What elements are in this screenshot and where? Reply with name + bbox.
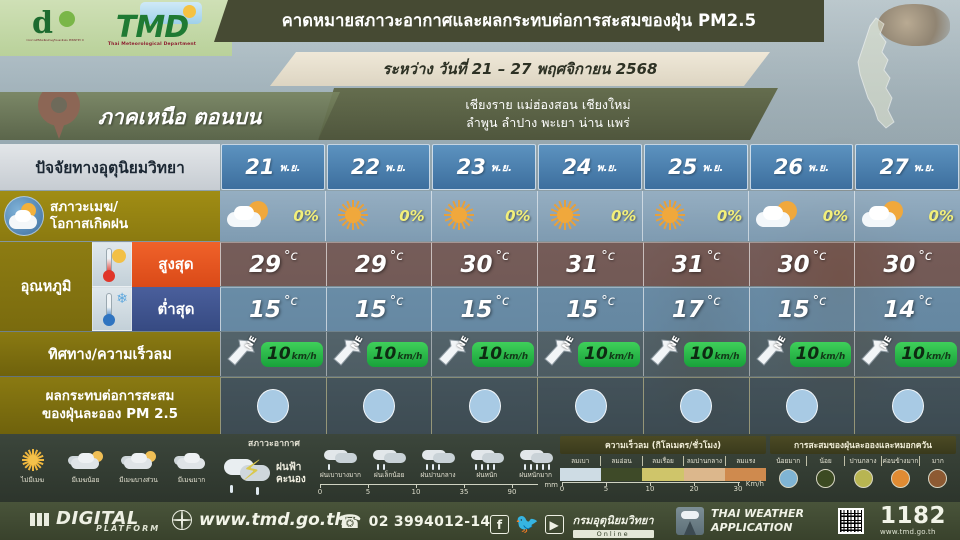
pm25-label-line-2: ของฝุ่นละออง PM 2.5: [42, 406, 178, 424]
wind-legend-segment: [560, 468, 601, 481]
ministry-logo: d กระทรวงดิจิทัลเพื่อเศรษฐกิจและสังคม MI…: [26, 6, 84, 52]
day-month: พ.ย.: [385, 159, 406, 176]
rain-axis-tick-label: 5: [366, 488, 370, 496]
rain-drop: [377, 464, 379, 470]
rain-legend-label: ฝนเล็กน้อย: [374, 470, 405, 480]
temp-unit: °c: [284, 294, 298, 309]
mini-sun-icon: [24, 451, 42, 469]
website-link[interactable]: www.tmd.go.th: [172, 510, 347, 530]
rain-drop: [487, 464, 489, 470]
wind-row: ทิศทาง/ความเร็วลม NE10km/hNE10km/hNE10km…: [0, 332, 960, 376]
pm-legend-category: น้อย: [806, 456, 843, 466]
day-number: 23: [457, 155, 486, 179]
cloud-top: [763, 206, 783, 220]
rain-chance: 0%: [505, 207, 530, 225]
sky-legend-item: มีเมฆบางส่วน: [112, 448, 165, 498]
facebook-icon[interactable]: f: [490, 515, 509, 534]
pm25-level-dot: [892, 389, 924, 423]
temp-max-cell-21: 29°c: [220, 242, 326, 286]
temp-unit: °c: [813, 294, 827, 309]
ministry-dot-icon: [59, 11, 75, 27]
weather-icon-wrap: [544, 196, 590, 236]
rain-legend-label: ฝนเบาบางมาก: [320, 470, 361, 480]
hotline-website: www.tmd.go.th: [880, 528, 946, 536]
cloud-b: [433, 453, 455, 463]
sunny-icon: [340, 202, 366, 228]
youtube-icon[interactable]: ▶: [545, 515, 564, 534]
wind-speed-unit: km/h: [715, 352, 740, 362]
factor-header-label: ปัจจัยทางอุตุนิยมวิทยา: [35, 155, 185, 180]
pm-legend-dot-wrap: [844, 469, 881, 488]
sun-core: [345, 207, 361, 223]
wind-direction-arrow-icon: NE: [435, 336, 469, 372]
thai-weather-app[interactable]: THAI WEATHER APPLICATION: [676, 507, 804, 535]
day-month: พ.ย.: [279, 159, 300, 176]
phone-number: 02 3994012-14: [369, 514, 491, 530]
temp-unit: °c: [601, 294, 615, 309]
pm-legend-category: ค่อนข้างมาก: [881, 456, 918, 466]
pm25-level-dot: [363, 389, 395, 423]
rain-legend-label: ฝนปานกลาง: [420, 470, 455, 480]
twitter-icon[interactable]: 🐦: [515, 515, 539, 534]
temp-value: 30: [460, 252, 492, 278]
pm25-day-cells: [220, 377, 960, 434]
wind-speed-unit: km/h: [609, 352, 634, 362]
wind-speed-badge: 10km/h: [895, 342, 957, 367]
partly-cloudy-icon: [755, 196, 801, 236]
rain-chance: 0%: [929, 207, 954, 225]
pm-legend-category: ปานกลาง: [844, 456, 881, 466]
weather-icon-wrap: [332, 196, 378, 236]
partly-cloudy-icon: [861, 196, 907, 236]
title-bar: คาดหมายสภาวะอากาศและผลกระทบต่อการสะสมของ…: [214, 0, 824, 42]
page-title: คาดหมายสภาวะอากาศและผลกระทบต่อการสะสมของ…: [282, 8, 756, 34]
temp-value: 15: [566, 297, 598, 323]
rain-drop: [328, 464, 330, 470]
wind-legend-category: ลมแรง: [725, 456, 766, 466]
pm25-cell-24: [537, 377, 643, 434]
partly-cloud-icon: [119, 448, 159, 474]
pm25-label-line-1: ผลกระทบต่อการสะสม: [42, 388, 178, 406]
day-number: 22: [351, 155, 380, 179]
digital-platform-logo: DIGITAL PLATFORM: [30, 508, 180, 534]
temp-min-cell-23: 15°c: [431, 287, 537, 331]
thunderstorm-label-line-1: ฝนฟ้า: [276, 462, 306, 475]
pm-legend-dot-wrap: [770, 469, 807, 488]
wind-cell-27: NE10km/h: [854, 332, 960, 376]
sky-label: สภาวะเมฆ/ โอกาสเกิดฝน: [50, 199, 128, 233]
rain-drop: [548, 464, 550, 470]
sky-cell-22: 0%: [325, 191, 431, 241]
temp-min-cell-21: 15°c: [220, 287, 326, 331]
sky-legend-label: มีเมฆน้อย: [72, 475, 100, 485]
wind-axis-unit: Km/h: [746, 480, 764, 488]
wind-direction-arrow-icon: NE: [753, 336, 787, 372]
wind-axis-tick-label: 30: [734, 485, 743, 493]
tmd-logo-text: TMD: [92, 10, 212, 45]
wind-speed-unit: km/h: [820, 352, 845, 362]
temp-value: 31: [672, 252, 704, 278]
phone-contact[interactable]: ☎ 02 3994012-14: [338, 511, 490, 533]
factor-header-cell: ปัจจัยทางอุตุนิยมวิทยา: [0, 144, 220, 190]
wind-direction-arrow-icon: NE: [858, 336, 892, 372]
cloudy-icon: [172, 448, 212, 474]
rain-drop: [530, 464, 532, 470]
ministry-glyph: d: [32, 6, 51, 41]
pm-legend-dot-wrap: [882, 469, 919, 488]
partly-cloudy-icon: [4, 196, 44, 236]
sky-legend-title: สภาวะอากาศ: [248, 436, 300, 450]
rain-axis-tick-label: 35: [460, 488, 469, 496]
provinces-line-1: เชียงราย แม่ฮ่องสอน เชียงใหม่: [465, 96, 630, 114]
hotline-block: 1182 www.tmd.go.th: [880, 505, 946, 536]
wind-axis-tick-label: 20: [690, 485, 699, 493]
cloud-top: [184, 453, 200, 463]
sky-condition-row: สภาวะเมฆ/ โอกาสเกิดฝน 0%0%0%0%0%0%0%: [0, 191, 960, 241]
pm25-level-dot: [680, 389, 712, 423]
wind-legend-category: ลมอ่อน: [600, 456, 641, 466]
rain-legend-item: ฝนปานกลาง: [414, 448, 463, 482]
rain-legend-item: ฝนเล็กน้อย: [365, 448, 414, 482]
temp-min-cell-24: 15°c: [537, 287, 643, 331]
mini-cloud-icon: [119, 448, 159, 474]
day-month: พ.ย.: [597, 159, 618, 176]
temp-max-cell-22: 29°c: [326, 242, 432, 286]
weather-icon-wrap: [649, 196, 695, 236]
temp-min-cell-27: 14°c: [854, 287, 960, 331]
temp-min-cell-26: 15°c: [749, 287, 855, 331]
rain-axis-tick-label: 90: [508, 488, 517, 496]
wind-axis-tick-label: 10: [646, 485, 655, 493]
temp-value: 30: [883, 252, 915, 278]
cloud-top: [234, 206, 254, 220]
temp-unit: °c: [284, 249, 298, 264]
mini-sun-core: [28, 455, 38, 465]
weather-infographic: d กระทรวงดิจิทัลเพื่อเศรษฐกิจและสังคม MI…: [0, 0, 960, 540]
wind-legend: ความเร็วลม (กิโลเมตร/ชั่วโมง) ลมเบาลมอ่อ…: [560, 436, 766, 502]
wind-label: ทิศทาง/ความเร็วลม: [48, 343, 172, 366]
pm25-cell-27: [854, 377, 960, 434]
app-label-line-1: THAI WEATHER: [711, 507, 804, 521]
rain-drop: [542, 464, 544, 470]
tmd-logo: TMD Thai Meteorological Department: [92, 2, 212, 54]
rain-legend: ฝนเบาบางมากฝนเล็กน้อยฝนปานกลางฝนหนักฝนหน…: [316, 448, 560, 502]
pm25-label: ผลกระทบต่อการสะสม ของฝุ่นละออง PM 2.5: [42, 388, 178, 423]
temp-unit: °c: [707, 249, 721, 264]
rain-legend-axis: mm 05103590: [316, 483, 560, 499]
temp-value: 15: [249, 297, 281, 323]
temp-value: 31: [566, 252, 598, 278]
pm25-label-cell: ผลกระทบต่อการสะสม ของฝุ่นละออง PM 2.5: [0, 377, 220, 434]
day-header-cells: 21พ.ย.22พ.ย.23พ.ย.24พ.ย.25พ.ย.26พ.ย.27พ.…: [220, 144, 960, 190]
wind-label-cell: ทิศทาง/ความเร็วลม: [0, 332, 220, 376]
sky-label-cell: สภาวะเมฆ/ โอกาสเกิดฝน: [0, 191, 220, 241]
rain-drop: [432, 464, 434, 470]
day-month: พ.ย.: [808, 159, 829, 176]
wind-speed-value: 10: [478, 344, 502, 364]
rain-axis-tick-label: 10: [412, 488, 421, 496]
wind-speed-badge: 10km/h: [472, 342, 534, 367]
wind-speed-value: 10: [584, 344, 608, 364]
digital-platform-sub: PLATFORM: [96, 524, 160, 533]
day-number: 26: [774, 155, 803, 179]
temp-value: 29: [249, 252, 281, 278]
sun-icon: [13, 448, 53, 474]
rain-chance: 0%: [399, 207, 424, 225]
temp-unit: °c: [918, 294, 932, 309]
day-header-25: 25พ.ย.: [644, 144, 748, 190]
wind-legend-colorbar: [560, 468, 766, 481]
day-month: พ.ย.: [491, 159, 512, 176]
pm25-level-dot: [257, 389, 289, 423]
temp-value: 15: [460, 297, 492, 323]
date-range: ระหว่าง วันที่ 21 – 27 พฤศจิกายน 2568: [383, 57, 658, 81]
day-header-27: 27พ.ย.: [855, 144, 959, 190]
sky-cell-26: 0%: [748, 191, 854, 241]
wind-legend-segment: [601, 468, 642, 481]
temp-value: 14: [883, 297, 915, 323]
pm25-level-dot: [786, 389, 818, 423]
wind-speed-badge: 10km/h: [578, 342, 640, 367]
sky-cell-25: 0%: [642, 191, 748, 241]
temp-unit: °c: [601, 249, 615, 264]
cloud-b: [335, 453, 357, 463]
qr-code: [838, 508, 864, 534]
region-bar: ภาคเหนือ ตอนบน: [0, 92, 340, 140]
pm25-row: ผลกระทบต่อการสะสม ของฝุ่นละออง PM 2.5: [0, 377, 960, 434]
hotline-number: 1182: [880, 505, 946, 528]
temp-value: 17: [672, 297, 704, 323]
sky-legend-label: ไม่มีเมฆ: [21, 475, 44, 485]
sky-legend-label: มีเมฆมาก: [178, 475, 206, 485]
temp-value: 30: [778, 252, 810, 278]
phone-icon: ☎: [338, 511, 362, 533]
rain-chance: 0%: [823, 207, 848, 225]
rain-drop: [536, 464, 538, 470]
pm-legend-dot: [854, 469, 873, 488]
cloud-b: [531, 453, 553, 463]
wind-direction-arrow-icon: NE: [541, 336, 575, 372]
rain-cloud-icon: [466, 448, 508, 470]
rain-cloud-icon: [417, 448, 459, 470]
day-number: 27: [880, 155, 909, 179]
partly-cloudy-icon: [226, 196, 272, 236]
sky-legend: ไม่มีเมฆมีเมฆน้อยมีเมฆบางส่วนมีเมฆมาก: [6, 448, 218, 498]
temp-min-cell-22: 15°c: [326, 287, 432, 331]
wind-speed-unit: km/h: [503, 352, 528, 362]
sky-cell-27: 0%: [854, 191, 960, 241]
sun-core: [451, 207, 467, 223]
wind-speed-value: 10: [796, 344, 820, 364]
app-label: THAI WEATHER APPLICATION: [711, 507, 804, 535]
pm-legend-category: น้อยมาก: [770, 456, 806, 466]
weather-icon-wrap: [861, 196, 907, 236]
thunderstorm-label: ฝนฟ้า คะนอง: [276, 462, 306, 487]
mini-cloud-icon: [66, 448, 106, 474]
digital-bars-icon: [30, 513, 49, 526]
wind-day-cells: NE10km/hNE10km/hNE10km/hNE10km/hNE10km/h…: [220, 332, 960, 376]
pm-legend: การสะสมของฝุ่นละอองและหมอกควัน น้อยมากน้…: [770, 436, 956, 502]
globe-icon: [172, 510, 192, 530]
wind-speed-unit: km/h: [292, 352, 317, 362]
temp-min-cell-25: 17°c: [643, 287, 749, 331]
sky-cell-24: 0%: [537, 191, 643, 241]
temp-max-cell-23: 30°c: [431, 242, 537, 286]
thermometer-hot-icon: [92, 242, 132, 287]
thailand-map: [814, 4, 954, 132]
temp-max-cell-27: 30°c: [854, 242, 960, 286]
rain-legend-label: ฝนหนัก: [476, 470, 497, 480]
rain-cloud-icon: [368, 448, 410, 470]
department-online: กรมอุตุนิยมวิทยา Online: [573, 511, 654, 538]
pm-legend-dot-wrap: [919, 469, 956, 488]
pm25-cell-22: [326, 377, 432, 434]
temperature-label: อุณหภูมิ: [0, 242, 92, 331]
pm25-cell-23: [431, 377, 537, 434]
sunny-icon: [657, 202, 683, 228]
wind-legend-categories: ลมเบาลมอ่อนลมเรื่อยลมปานกลางลมแรง: [560, 456, 766, 466]
wind-direction-arrow-icon: NE: [330, 336, 364, 372]
temp-value: 15: [355, 297, 387, 323]
weather-icon-wrap: [226, 196, 272, 236]
day-number: 25: [668, 155, 697, 179]
rain-drop: [438, 464, 440, 470]
cloud-b: [482, 453, 504, 463]
wind-cell-21: NE10km/h: [220, 332, 326, 376]
temperature-kind-labels: สูงสุด ต่ำสุด: [132, 242, 220, 331]
rain-axis-tick-label: 0: [318, 488, 322, 496]
wind-axis-tick-label: 5: [604, 485, 608, 493]
temp-value: 15: [778, 297, 810, 323]
cloud-top: [869, 206, 889, 220]
pm-legend-dot: [816, 469, 835, 488]
rain-axis-unit: mm: [544, 481, 558, 489]
day-number: 21: [245, 155, 274, 179]
sunny-icon: [552, 202, 578, 228]
wind-legend-title: ความเร็วลม (กิโลเมตร/ชั่วโมง): [560, 436, 766, 454]
pm-legend-dot-wrap: [807, 469, 844, 488]
wind-speed-badge: 10km/h: [261, 342, 323, 367]
logo-panel: d กระทรวงดิจิทัลเพื่อเศรษฐกิจและสังคม MI…: [0, 0, 232, 56]
provinces-bar: เชียงราย แม่ฮ่องสอน เชียงใหม่ ลำพูน ลำปา…: [318, 88, 778, 140]
day-header-21: 21พ.ย.: [221, 144, 325, 190]
wind-speed-value: 10: [690, 344, 714, 364]
sky-label-line-1: สภาวะเมฆ/: [50, 199, 128, 216]
thermometer-cold-icon: [92, 287, 132, 332]
pm25-level-dot: [469, 389, 501, 423]
sky-cell-23: 0%: [431, 191, 537, 241]
tmd-logo-subtitle: Thai Meteorological Department: [92, 42, 212, 47]
wind-speed-value: 10: [373, 344, 397, 364]
rain-cloud-icon: [319, 448, 361, 470]
sky-label-line-2: โอกาสเกิดฝน: [50, 216, 128, 233]
thunderstorm-label-line-2: คะนอง: [276, 474, 306, 487]
rain-cloud-icon: [515, 448, 557, 470]
location-pin-icon: [38, 84, 80, 140]
wind-legend-segment: [642, 468, 683, 481]
temp-unit: °c: [390, 294, 404, 309]
sky-legend-item: ไม่มีเมฆ: [6, 448, 59, 498]
wind-speed-badge: 10km/h: [367, 342, 429, 367]
rain-drop: [426, 464, 428, 470]
weather-icon-wrap: [755, 196, 801, 236]
pm25-cell-21: [220, 377, 326, 434]
day-header-24: 24พ.ย.: [538, 144, 642, 190]
wind-cell-23: NE10km/h: [431, 332, 537, 376]
rain-chance: 0%: [717, 207, 742, 225]
cloud-b: [384, 453, 406, 463]
temperature-label-cell: อุณหภูมิ สูงสุด ต่ำสุด: [0, 242, 220, 331]
wind-speed-value: 10: [901, 344, 925, 364]
temp-unit: °c: [707, 294, 721, 309]
wind-direction-arrow-icon: NE: [224, 336, 258, 372]
rain-drop: [524, 464, 526, 470]
department-online-tag: Online: [573, 530, 654, 538]
day-header-26: 26พ.ย.: [750, 144, 854, 190]
wind-legend-axis: Km/h 05102030: [560, 481, 766, 496]
date-bar: ระหว่าง วันที่ 21 – 27 พฤศจิกายน 2568: [270, 52, 770, 86]
pm-legend-category: มาก: [919, 456, 956, 466]
social-links: f 🐦 ▶ กรมอุตุนิยมวิทยา Online: [490, 511, 654, 538]
rain-drop: [475, 464, 477, 470]
mini-cloud-icon: [172, 448, 212, 474]
wind-legend-category: ลมเรื่อย: [642, 456, 683, 466]
sky-legend-item: มีเมฆมาก: [165, 448, 218, 498]
rain-legend-item: ฝนเบาบางมาก: [316, 448, 365, 482]
rain-drop: [493, 464, 495, 470]
sky-cell-21: 0%: [220, 191, 325, 241]
rain-legend-items: ฝนเบาบางมากฝนเล็กน้อยฝนปานกลางฝนหนักฝนหน…: [316, 448, 560, 482]
temp-min-cells: 15°c15°c15°c15°c17°c15°c14°c: [220, 287, 960, 331]
pm-legend-dot: [779, 469, 798, 488]
sky-legend-item: มีเมฆน้อย: [59, 448, 112, 498]
wind-speed-badge: 10km/h: [684, 342, 746, 367]
thermometer-icons: [92, 242, 132, 331]
legend-strip: สภาวะอากาศ ไม่มีเมฆมีเมฆน้อยมีเมฆบางส่วน…: [0, 434, 960, 502]
temp-max-label: สูงสุด: [132, 242, 220, 287]
wind-speed-unit: km/h: [397, 352, 422, 362]
wind-legend-category: ลมปานกลาง: [683, 456, 724, 466]
wind-speed-value: 10: [267, 344, 291, 364]
wind-cell-24: NE10km/h: [537, 332, 643, 376]
temp-unit: °c: [495, 294, 509, 309]
wind-cell-22: NE10km/h: [326, 332, 432, 376]
temp-max-cell-24: 31°c: [537, 242, 643, 286]
temp-max-cell-26: 30°c: [749, 242, 855, 286]
pm25-level-dot: [575, 389, 607, 423]
rain-legend-item: ฝนหนัก: [462, 448, 511, 482]
sun-cloud-icon: [66, 448, 106, 474]
temp-max-cells: 29°c29°c30°c31°c31°c30°c30°c: [220, 242, 960, 286]
temp-max-cell-25: 31°c: [643, 242, 749, 286]
website-url: www.tmd.go.th: [199, 510, 347, 530]
temp-unit: °c: [813, 249, 827, 264]
cloud-top: [131, 453, 147, 463]
table-header-row: ปัจจัยทางอุตุนิยมวิทยา 21พ.ย.22พ.ย.23พ.ย…: [0, 144, 960, 190]
wind-axis-tick-label: 0: [560, 485, 564, 493]
ministry-logo-caption: กระทรวงดิจิทัลเพื่อเศรษฐกิจและสังคม MINI…: [26, 39, 84, 43]
cloud-top: [78, 453, 94, 463]
pm-legend-categories: น้อยมากน้อยปานกลางค่อนข้างมากมาก: [770, 456, 956, 466]
day-header-23: 23พ.ย.: [432, 144, 536, 190]
app-icon: [676, 507, 704, 535]
sky-legend-label: มีเมฆบางส่วน: [119, 475, 158, 485]
day-header-22: 22พ.ย.: [327, 144, 431, 190]
weather-icon-wrap: [438, 196, 484, 236]
day-month: พ.ย.: [702, 159, 723, 176]
thailand-map-shape: [814, 16, 954, 132]
temp-unit: °c: [495, 249, 509, 264]
